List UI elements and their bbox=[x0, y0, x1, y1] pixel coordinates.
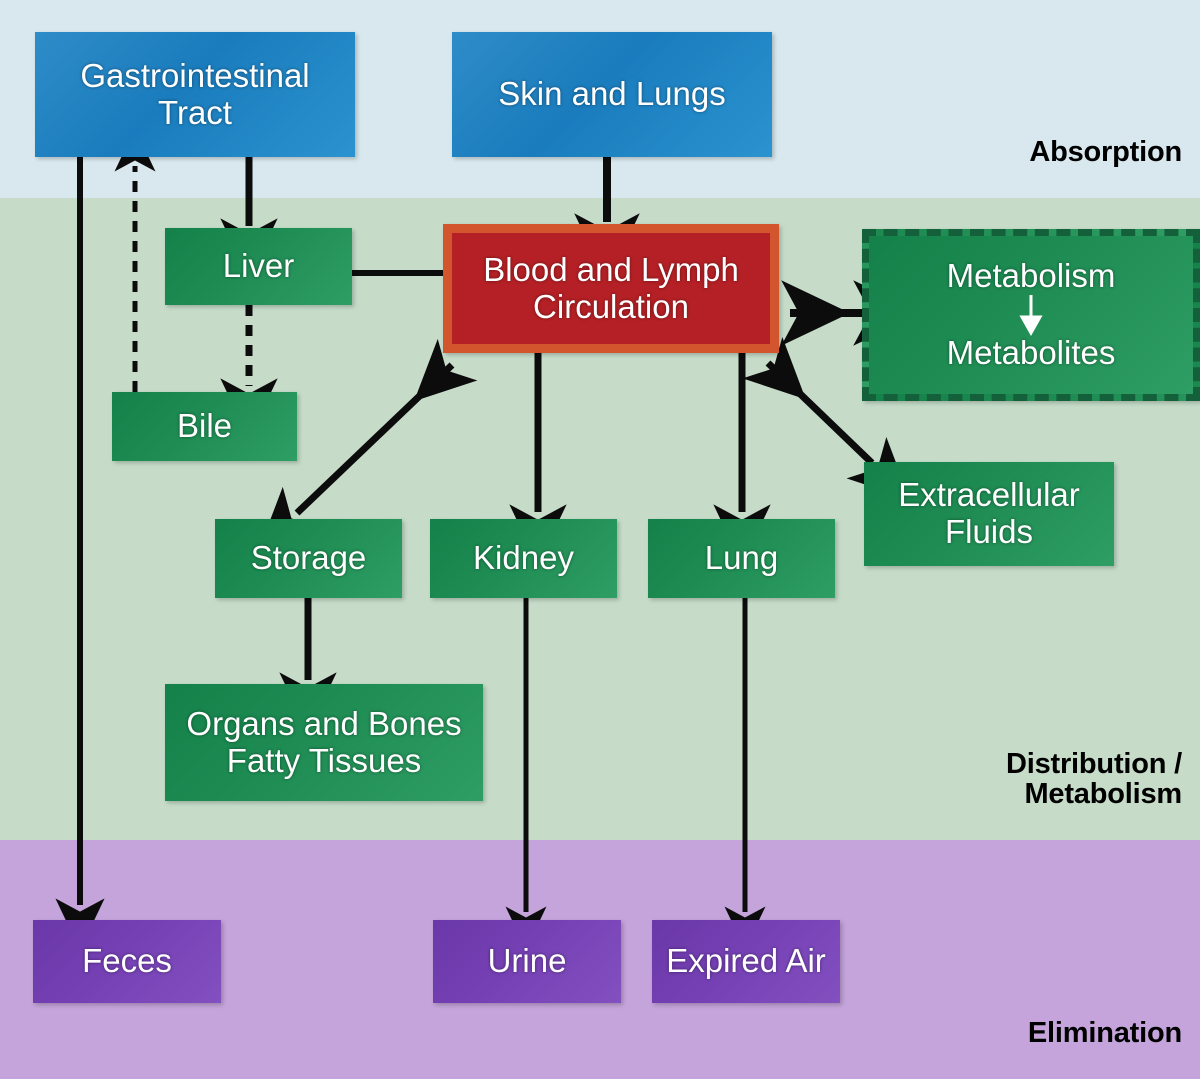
node-lung-label: Lung bbox=[705, 540, 778, 577]
node-organs-and-bones-fatty-tissues[interactable]: Organs and Bones Fatty Tissues bbox=[165, 684, 483, 801]
pharmacokinetics-diagram: Absorption Distribution / Metabolism Eli… bbox=[0, 0, 1200, 1079]
node-skin-and-lungs[interactable]: Skin and Lungs bbox=[452, 32, 772, 157]
node-extracellular-line1: Extracellular bbox=[898, 477, 1080, 514]
node-blood-and-lymph-circulation[interactable]: Blood and Lymph Circulation bbox=[443, 224, 779, 353]
node-organs-line1: Organs and Bones bbox=[186, 706, 461, 743]
node-expired-label: Expired Air bbox=[666, 943, 826, 980]
node-liver[interactable]: Liver bbox=[165, 228, 352, 305]
node-blood-line2: Circulation bbox=[483, 289, 739, 326]
node-metabolism-line1: Metabolism bbox=[947, 258, 1116, 295]
node-lung[interactable]: Lung bbox=[648, 519, 835, 598]
node-kidney-label: Kidney bbox=[473, 540, 574, 577]
node-bile-label: Bile bbox=[177, 408, 232, 445]
node-storage[interactable]: Storage bbox=[215, 519, 402, 598]
node-urine[interactable]: Urine bbox=[433, 920, 621, 1003]
node-blood-line1: Blood and Lymph bbox=[483, 252, 739, 289]
node-gi-line2: Tract bbox=[80, 95, 309, 132]
edge-blood-to-extracellular bbox=[768, 363, 872, 463]
node-feces[interactable]: Feces bbox=[33, 920, 221, 1003]
node-kidney[interactable]: Kidney bbox=[430, 519, 617, 598]
node-skin-label: Skin and Lungs bbox=[498, 76, 726, 113]
node-feces-label: Feces bbox=[82, 943, 172, 980]
node-storage-label: Storage bbox=[251, 540, 367, 577]
node-bile[interactable]: Bile bbox=[112, 392, 297, 461]
node-expired-air[interactable]: Expired Air bbox=[652, 920, 840, 1003]
node-metabolism[interactable]: Metabolism Metabolites bbox=[862, 229, 1200, 401]
edge-blood-to-storage bbox=[297, 365, 452, 513]
node-urine-label: Urine bbox=[488, 943, 567, 980]
node-metabolism-line2: Metabolites bbox=[947, 335, 1116, 372]
node-organs-line2: Fatty Tissues bbox=[186, 743, 461, 780]
node-gastrointestinal-tract[interactable]: Gastrointestinal Tract bbox=[35, 32, 355, 157]
node-liver-label: Liver bbox=[223, 248, 295, 285]
node-extracellular-fluids[interactable]: Extracellular Fluids bbox=[864, 462, 1114, 566]
down-arrow-white-icon bbox=[1018, 293, 1044, 337]
node-extracellular-line2: Fluids bbox=[898, 514, 1080, 551]
node-gi-line1: Gastrointestinal bbox=[80, 58, 309, 95]
